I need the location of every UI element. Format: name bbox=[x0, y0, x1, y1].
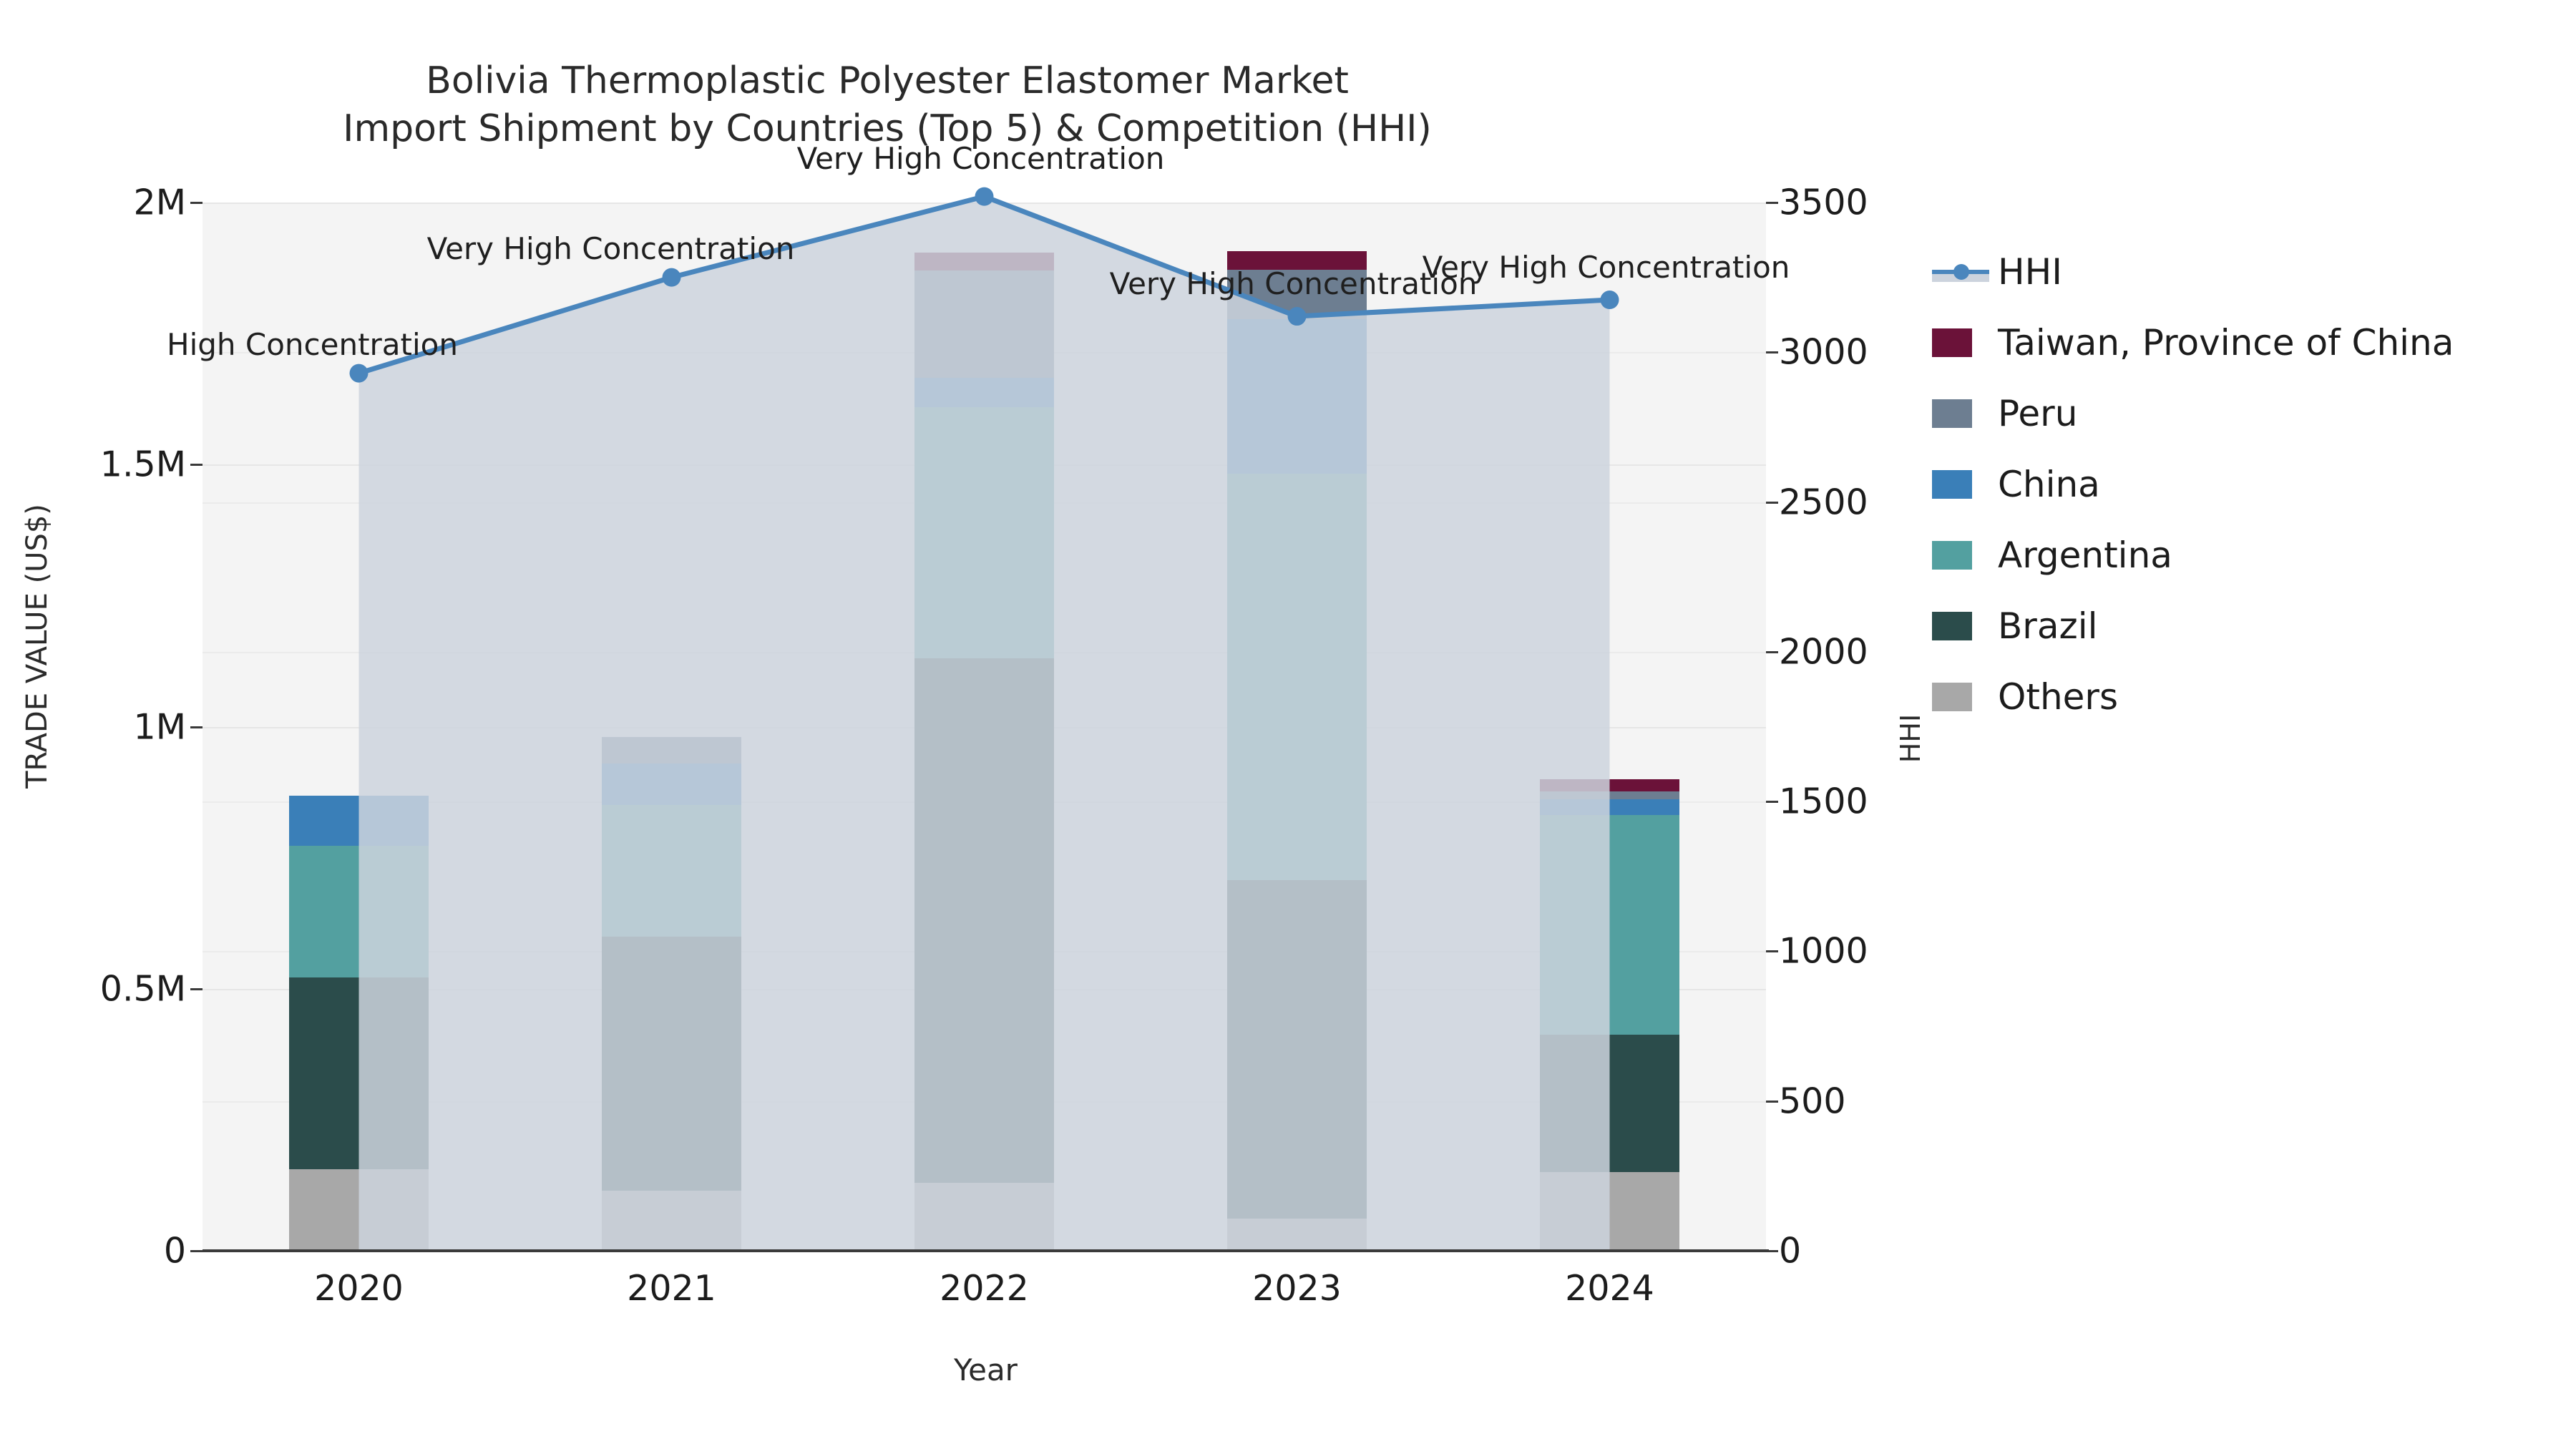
bar-segment[interactable] bbox=[289, 1169, 429, 1251]
legend-label: Argentina bbox=[1998, 535, 2172, 576]
legend-swatch-icon bbox=[1932, 328, 1972, 357]
y-tick-label-right: 2500 bbox=[1779, 482, 1868, 522]
bar-segment[interactable] bbox=[914, 253, 1054, 271]
legend-swatch-icon bbox=[1932, 683, 1972, 711]
y-tick-mark-right bbox=[1766, 651, 1778, 653]
y-tick-mark-right bbox=[1766, 801, 1778, 803]
bar-segment[interactable] bbox=[602, 763, 741, 806]
legend-item[interactable]: Brazil bbox=[1932, 590, 2562, 661]
gridline-left bbox=[203, 203, 1766, 204]
legend-swatch-icon bbox=[1932, 470, 1972, 499]
bar-segment[interactable] bbox=[289, 977, 429, 1169]
legend: HHITaiwan, Province of ChinaPeruChinaArg… bbox=[1932, 236, 2562, 732]
bar-segment[interactable] bbox=[1227, 880, 1367, 1218]
x-axis-label: Year bbox=[203, 1352, 1769, 1387]
legend-swatch-icon bbox=[1932, 612, 1972, 640]
legend-label: Peru bbox=[1998, 393, 2077, 434]
y-tick-label-right: 3500 bbox=[1779, 182, 1868, 223]
bar-segment[interactable] bbox=[914, 270, 1054, 378]
y-tick-mark-right bbox=[1766, 950, 1778, 952]
bar-segment[interactable] bbox=[1540, 799, 1679, 815]
y-tick-label-right: 0 bbox=[1779, 1231, 1801, 1272]
bar-segment[interactable] bbox=[1540, 815, 1679, 1035]
bar-segment[interactable] bbox=[602, 737, 741, 763]
y-tick-label-right: 1500 bbox=[1779, 781, 1868, 822]
y-tick-label-right: 2000 bbox=[1779, 631, 1868, 672]
bar-segment[interactable] bbox=[914, 658, 1054, 1183]
legend-label: China bbox=[1998, 464, 2100, 505]
legend-swatch-icon bbox=[1932, 541, 1972, 570]
legend-item[interactable]: Taiwan, Province of China bbox=[1932, 307, 2562, 378]
y-tick-label-left: 2M bbox=[134, 182, 186, 223]
y-tick-label-left: 1.5M bbox=[100, 444, 186, 485]
y-tick-mark-right bbox=[1766, 1250, 1778, 1252]
y-axis-label-left: TRADE VALUE (US$) bbox=[21, 417, 54, 875]
legend-label: Taiwan, Province of China bbox=[1998, 322, 2454, 364]
hhi-annotation: Very High Concentration bbox=[797, 141, 1165, 176]
legend-item[interactable]: Argentina bbox=[1932, 519, 2562, 590]
bar-segment[interactable] bbox=[1540, 1035, 1679, 1172]
bar-segment[interactable] bbox=[1227, 1219, 1367, 1251]
bar-segment[interactable] bbox=[602, 1191, 741, 1251]
legend-label: Brazil bbox=[1998, 605, 2098, 647]
chart-canvas: Bolivia Thermoplastic Polyester Elastome… bbox=[0, 0, 2576, 1449]
y-tick-mark-left bbox=[190, 202, 203, 204]
hhi-annotation: Very High Concentration bbox=[427, 231, 795, 266]
legend-item[interactable]: Others bbox=[1932, 661, 2562, 732]
hhi-annotation: Very High Concentration bbox=[1423, 250, 1790, 285]
page-title: Bolivia Thermoplastic Polyester Elastome… bbox=[0, 57, 1775, 152]
y-tick-mark-right bbox=[1766, 351, 1778, 353]
bar-segment[interactable] bbox=[1540, 791, 1679, 799]
bar-segment[interactable] bbox=[1227, 319, 1367, 474]
y-tick-label-left: 0 bbox=[164, 1231, 186, 1272]
y-tick-mark-left bbox=[190, 988, 203, 990]
bar-segment[interactable] bbox=[1227, 474, 1367, 880]
bar-segment[interactable] bbox=[1540, 779, 1679, 791]
legend-item[interactable]: Peru bbox=[1932, 378, 2562, 449]
legend-marker-dot bbox=[1953, 264, 1969, 280]
y-tick-label-right: 1000 bbox=[1779, 931, 1868, 972]
y-tick-mark-left bbox=[190, 1250, 203, 1252]
y-tick-label-left: 0.5M bbox=[100, 968, 186, 1009]
bar-segment[interactable] bbox=[289, 846, 429, 978]
bar-segment[interactable] bbox=[1540, 1172, 1679, 1251]
legend-line-icon bbox=[1932, 262, 1989, 282]
x-axis-line bbox=[203, 1249, 1769, 1252]
hhi-annotation: High Concentration bbox=[167, 327, 458, 362]
x-tick-label: 2020 bbox=[314, 1268, 404, 1309]
x-tick-label: 2023 bbox=[1252, 1268, 1342, 1309]
x-tick-label: 2021 bbox=[627, 1268, 716, 1309]
chart-title: Bolivia Thermoplastic Polyester Elastome… bbox=[426, 59, 1349, 102]
y-tick-mark-right bbox=[1766, 502, 1778, 504]
legend-item[interactable]: HHI bbox=[1932, 236, 2562, 307]
legend-item[interactable]: China bbox=[1932, 449, 2562, 519]
y-tick-label-right: 3000 bbox=[1779, 332, 1868, 373]
legend-label: Others bbox=[1998, 676, 2118, 718]
y-tick-label-left: 1M bbox=[134, 706, 186, 747]
legend-label: HHI bbox=[1998, 251, 2062, 293]
y-tick-mark-left bbox=[190, 464, 203, 466]
bar-segment[interactable] bbox=[914, 407, 1054, 659]
bar-segment[interactable] bbox=[602, 805, 741, 936]
y-tick-label-right: 500 bbox=[1779, 1080, 1846, 1121]
y-tick-mark-right bbox=[1766, 202, 1778, 204]
x-tick-label: 2024 bbox=[1565, 1268, 1654, 1309]
bar-segment[interactable] bbox=[914, 378, 1054, 406]
y-tick-mark-left bbox=[190, 726, 203, 728]
legend-swatch-icon bbox=[1932, 399, 1972, 428]
bar-segment[interactable] bbox=[289, 796, 429, 846]
bar-segment[interactable] bbox=[914, 1183, 1054, 1251]
y-axis-label-right: HHI bbox=[1895, 631, 1926, 846]
y-tick-mark-right bbox=[1766, 1101, 1778, 1103]
x-tick-label: 2022 bbox=[940, 1268, 1029, 1309]
bar-segment[interactable] bbox=[602, 937, 741, 1191]
